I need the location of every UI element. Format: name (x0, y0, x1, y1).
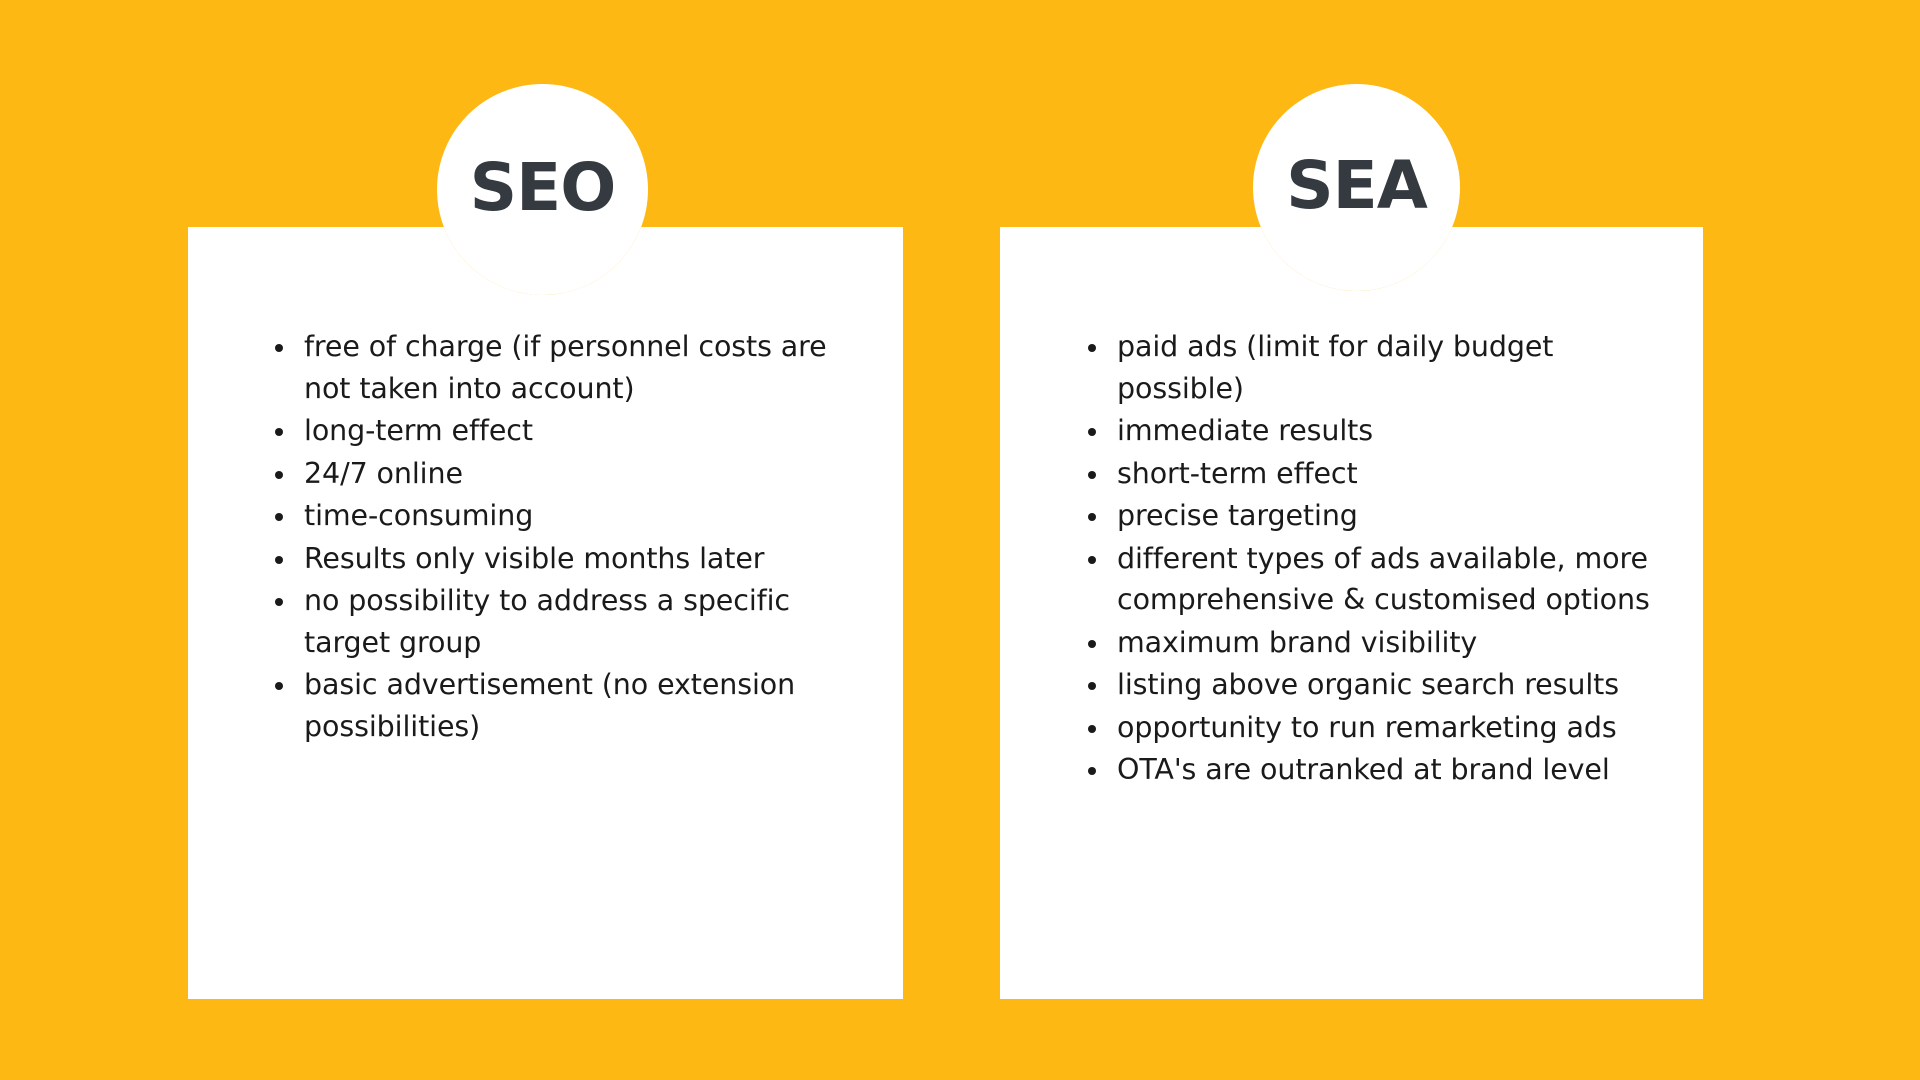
badge-sea-label-layer: SEA (1253, 84, 1460, 291)
list-item: OTA's are outranked at brand level (1085, 749, 1665, 791)
bullet-list-sea: paid ads (limit for daily budget possibl… (1085, 326, 1665, 792)
list-item: free of charge (if personnel costs are n… (272, 326, 842, 409)
badge-sea-label-top: SEA (1286, 153, 1427, 219)
badge-seo-label-top: SEO (470, 155, 616, 221)
list-item: different types of ads available, more c… (1085, 538, 1665, 621)
list-item: listing above organic search results (1085, 664, 1665, 706)
comparison-slide: SEO SEA SEO SEA free of charge (if perso… (0, 0, 1920, 1080)
bullet-list-seo: free of charge (if personnel costs are n… (272, 326, 842, 748)
list-item: basic advertisement (no extension possib… (272, 664, 842, 747)
list-item: long-term effect (272, 410, 842, 452)
list-item: precise targeting (1085, 495, 1665, 537)
list-item: Results only visible months later (272, 538, 842, 580)
list-item: no possibility to address a specific tar… (272, 580, 842, 663)
list-item: time-consuming (272, 495, 842, 537)
list-item: paid ads (limit for daily budget possibl… (1085, 326, 1665, 409)
list-item: short-term effect (1085, 453, 1665, 495)
list-item: immediate results (1085, 410, 1665, 452)
list-item: 24/7 online (272, 453, 842, 495)
list-item: opportunity to run remarketing ads (1085, 707, 1665, 749)
list-item: maximum brand visibility (1085, 622, 1665, 664)
badge-seo-label-layer: SEO (437, 84, 648, 295)
